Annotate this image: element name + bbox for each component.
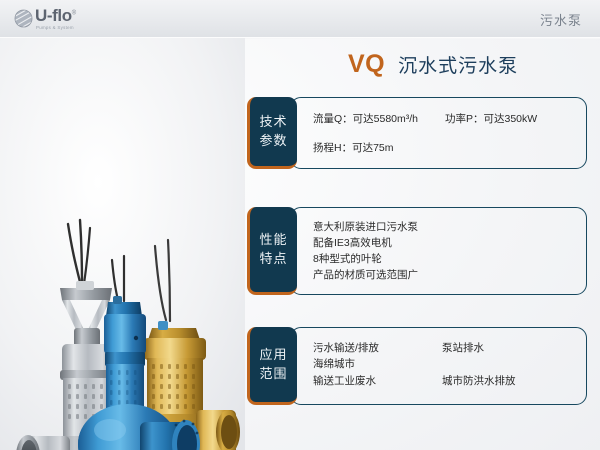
tab-line-1: 应用 — [259, 346, 287, 365]
tech-row: 流量Q：可达5580m³/h 功率P：可达350kW — [313, 111, 572, 127]
application-item: 输送工业废水 — [313, 373, 418, 389]
bronze-discharge-flange — [196, 410, 240, 450]
logo-wordmark: U-flo — [35, 6, 72, 25]
tab-line-1: 技术 — [259, 113, 287, 132]
block-tab-technical-parameters: 技术 参数 — [247, 97, 297, 169]
tech-row: 扬程H：可达75m — [313, 140, 572, 156]
feature-item: 产品的材质可选范围广 — [313, 268, 572, 284]
tab-line-2: 特点 — [259, 250, 287, 269]
application-column-left: 污水输送/排放 海绵城市 输送工业废水 — [313, 340, 418, 393]
title-product-name: 沉水式污水泵 — [398, 51, 518, 78]
stainless-discharge-flange — [16, 435, 70, 450]
brand-logo: U-flo® Pumps & System — [14, 7, 76, 30]
slide-header: U-flo® Pumps & System 污水泵 — [0, 0, 600, 38]
block-tab-application-scope: 应用 范围 — [247, 327, 297, 405]
block-panel-technical-parameters: 流量Q：可达5580m³/h 功率P：可达350kW 扬程H：可达75m — [290, 97, 587, 169]
slide-root: U-flo® Pumps & System 污水泵 VQ 沉水式污水泵 — [0, 0, 600, 450]
tab-line-2: 范围 — [259, 365, 287, 384]
application-column-right: 泵站排水 海绵城市 城市防洪水排放 — [442, 340, 516, 393]
spec-flow: 流量Q：可达5580m³/h — [313, 111, 433, 127]
info-block-application-scope: 应用 范围 污水输送/排放 海绵城市 输送工业废水 泵站排水 海绵城市 城市防洪… — [247, 327, 587, 405]
logo-registered-icon: ® — [72, 10, 76, 16]
feature-item: 8种型式的叶轮 — [313, 252, 572, 268]
page-title: VQ 沉水式污水泵 — [348, 50, 518, 79]
circle-hatch-logo-icon — [14, 9, 33, 28]
info-block-technical-parameters: 技术 参数 流量Q：可达5580m³/h 功率P：可达350kW 扬程H：可达7… — [247, 97, 587, 169]
pumps-illustration — [0, 38, 245, 450]
block-panel-performance-features: 意大利原装进口污水泵 配备IE3高效电机 8种型式的叶轮 产品的材质可选范围广 — [290, 207, 587, 295]
tab-line-2: 参数 — [259, 132, 287, 151]
application-item: 泵站排水 — [442, 340, 516, 356]
info-block-performance-features: 性能 特点 意大利原装进口污水泵 配备IE3高效电机 8种型式的叶轮 产品的材质… — [247, 207, 587, 295]
application-item: 污水输送/排放 — [313, 340, 418, 356]
spec-head: 扬程H：可达75m — [313, 140, 433, 156]
block-tab-performance-features: 性能 特点 — [247, 207, 297, 295]
block-panel-application-scope: 污水输送/排放 海绵城市 输送工业废水 泵站排水 海绵城市 城市防洪水排放 — [290, 327, 587, 405]
application-item: 海绵城市 — [313, 356, 418, 372]
spec-power: 功率P：可达350kW — [445, 111, 537, 127]
blue-discharge-flange — [140, 420, 200, 450]
header-category-label: 污水泵 — [540, 10, 582, 29]
application-item: 城市防洪水排放 — [442, 373, 516, 389]
logo-tagline: Pumps & System — [36, 26, 76, 30]
feature-item: 意大利原装进口污水泵 — [313, 220, 572, 236]
feature-item: 配备IE3高效电机 — [313, 236, 572, 252]
tab-line-1: 性能 — [259, 231, 287, 250]
title-model-code: VQ — [348, 50, 385, 79]
product-photo — [0, 38, 245, 450]
